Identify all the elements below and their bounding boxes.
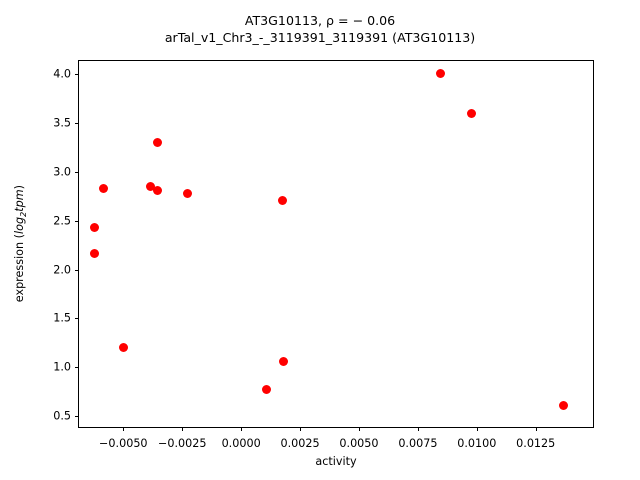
y-tick-mark	[75, 367, 79, 368]
scatter-point	[183, 189, 192, 198]
x-tick-mark	[241, 427, 242, 431]
y-tick-label: 2.0	[53, 263, 71, 276]
scatter-point	[119, 343, 128, 352]
x-tick-mark	[418, 427, 419, 431]
figure: AT3G10113, ρ = − 0.06 arTal_v1_Chr3_-_31…	[0, 0, 640, 480]
x-tick-label: −0.0025	[158, 437, 207, 450]
x-tick-label: 0.0075	[398, 437, 437, 450]
x-tick-label: −0.0050	[99, 437, 148, 450]
scatter-point	[559, 401, 568, 410]
x-tick-mark	[123, 427, 124, 431]
scatter-point	[467, 109, 476, 118]
chart-title-line-1: AT3G10113, ρ = − 0.06	[0, 12, 640, 29]
x-tick-label: 0.0050	[339, 437, 378, 450]
y-tick-label: 4.0	[53, 68, 71, 81]
y-tick-label: 1.5	[53, 312, 71, 325]
scatter-point	[153, 186, 162, 195]
y-tick-mark	[75, 74, 79, 75]
x-tick-label: 0.0100	[457, 437, 496, 450]
scatter-point	[436, 69, 445, 78]
y-tick-label: 3.0	[53, 165, 71, 178]
scatter-point	[90, 223, 99, 232]
x-tick-label: 0.0025	[280, 437, 319, 450]
chart-title-line-2: arTal_v1_Chr3_-_3119391_3119391 (AT3G101…	[0, 29, 640, 46]
x-tick-mark	[300, 427, 301, 431]
x-tick-mark	[182, 427, 183, 431]
y-tick-mark	[75, 318, 79, 319]
scatter-points-layer	[79, 61, 593, 427]
y-tick-mark	[75, 416, 79, 417]
y-tick-mark	[75, 221, 79, 222]
y-tick-label: 0.5	[53, 410, 71, 423]
x-tick-label: 0.0000	[222, 437, 261, 450]
x-tick-mark	[536, 427, 537, 431]
scatter-point	[278, 196, 287, 205]
y-tick-mark	[75, 123, 79, 124]
chart-title: AT3G10113, ρ = − 0.06 arTal_v1_Chr3_-_31…	[0, 12, 640, 46]
y-tick-mark	[75, 172, 79, 173]
scatter-point	[90, 249, 99, 258]
scatter-point	[279, 357, 288, 366]
y-axis-label-prefix: expression (	[13, 234, 26, 302]
y-tick-mark	[75, 270, 79, 271]
y-tick-label: 3.5	[53, 117, 71, 130]
y-axis-label-sub: 2	[20, 212, 29, 217]
y-tick-label: 1.0	[53, 361, 71, 374]
x-tick-mark	[477, 427, 478, 431]
x-tick-label: 0.0125	[516, 437, 555, 450]
y-axis-label-tpm: tpm	[13, 190, 26, 212]
x-tick-mark	[359, 427, 360, 431]
y-axis-label: expression (log2tpm)	[12, 60, 30, 428]
plot-axes: −0.0050−0.00250.00000.00250.00500.00750.…	[78, 60, 594, 428]
scatter-point	[153, 138, 162, 147]
y-axis-label-log: log	[13, 217, 26, 234]
scatter-point	[262, 385, 271, 394]
y-tick-label: 2.5	[53, 214, 71, 227]
x-axis-label: activity	[78, 455, 594, 468]
scatter-point	[99, 184, 108, 193]
y-axis-label-suffix: )	[13, 185, 26, 189]
